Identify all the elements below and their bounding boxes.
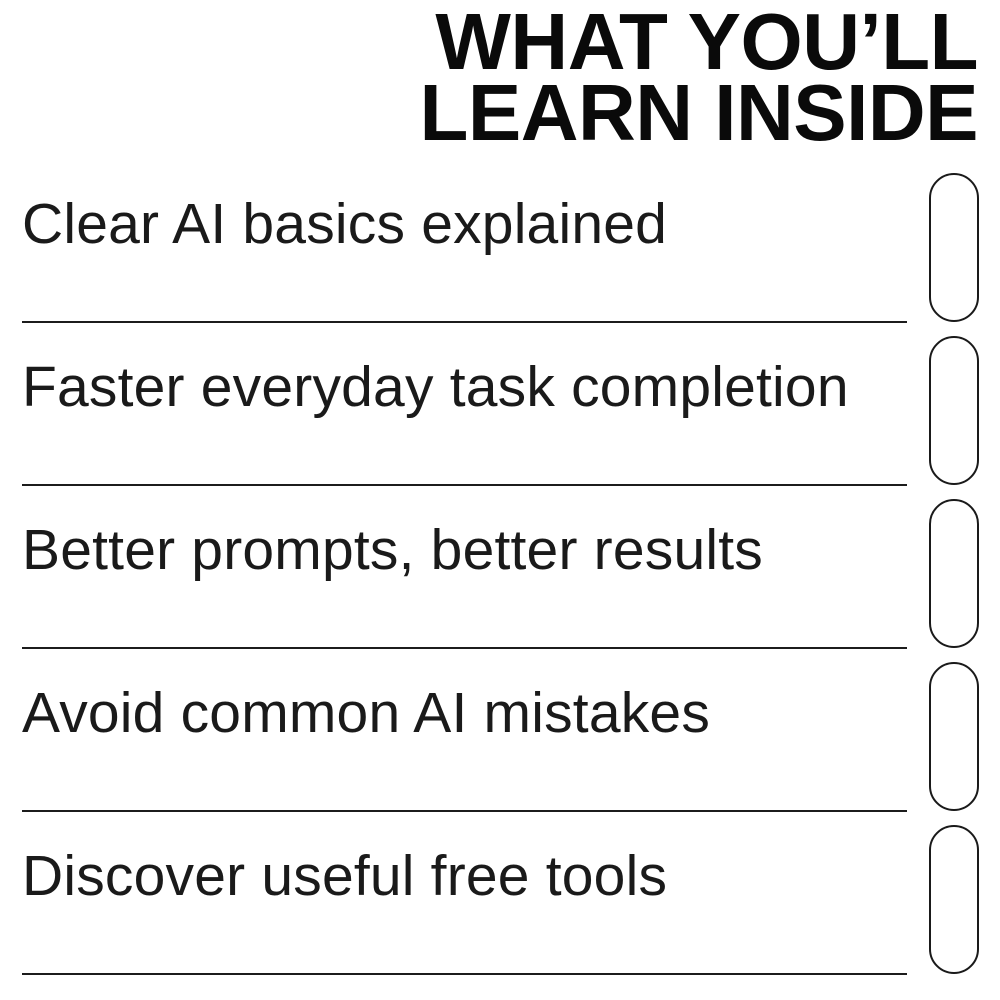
list-item: Avoid common AI mistakes <box>0 661 1000 824</box>
list-item-label: Better prompts, better results <box>22 498 763 603</box>
list-item-divider <box>22 647 907 649</box>
list-item-label: Clear AI basics explained <box>22 172 667 277</box>
learn-list: Clear AI basics explained Faster everyda… <box>0 172 1000 984</box>
list-item-divider <box>22 973 907 975</box>
page-title-line-2: LEARN INSIDE <box>0 77 978 148</box>
slide-canvas: WHAT YOU’LL LEARN INSIDE Clear AI basics… <box>0 0 1000 1000</box>
list-item-divider <box>22 321 907 323</box>
capsule-icon <box>929 662 979 811</box>
list-item: Faster everyday task completion <box>0 335 1000 498</box>
capsule-icon <box>929 173 979 322</box>
list-item: Better prompts, better results <box>0 498 1000 661</box>
list-item: Clear AI basics explained <box>0 172 1000 335</box>
capsule-icon <box>929 336 979 485</box>
list-item-label: Discover useful free tools <box>22 824 667 929</box>
capsule-icon <box>929 499 979 648</box>
list-item-divider <box>22 484 907 486</box>
page-title: WHAT YOU’LL LEARN INSIDE <box>0 6 978 148</box>
list-item-label: Faster everyday task completion <box>22 335 849 440</box>
list-item: Discover useful free tools <box>0 824 1000 987</box>
list-item-divider <box>22 810 907 812</box>
list-item-label: Avoid common AI mistakes <box>22 661 710 766</box>
capsule-icon <box>929 825 979 974</box>
page-title-line-1: WHAT YOU’LL <box>0 6 978 77</box>
